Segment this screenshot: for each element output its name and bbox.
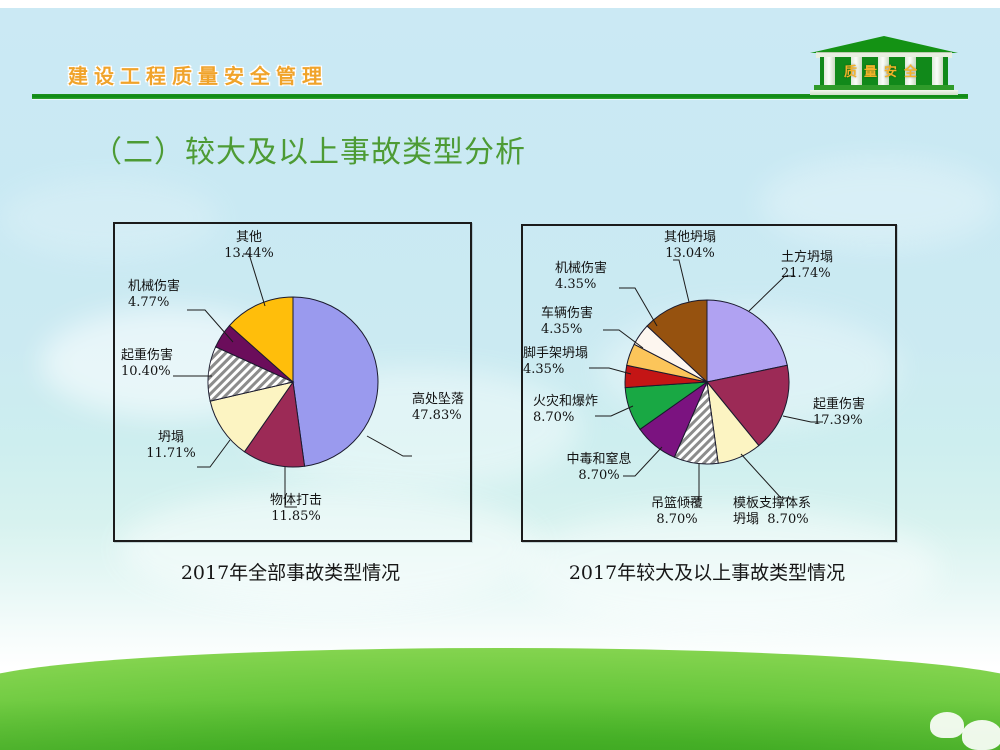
pie-label-mubanzhichengtanta: 模板支撑体系 坍塌 8.70% (733, 496, 811, 528)
logo-label: 质量安全 (820, 61, 948, 80)
header-title: 建设工程质量安全管理 (68, 60, 328, 89)
temple-base-lower (810, 90, 958, 95)
pie-label-cheliangshanghai: 车辆伤害 4.35% (541, 306, 593, 338)
page-title: （二）较大及以上事故类型分析 (92, 127, 526, 171)
leader-line (367, 436, 412, 456)
leader-line (595, 406, 633, 416)
pie-label-tufangtanta: 土方坍塌 21.74% (781, 250, 833, 282)
pie-slices (625, 300, 789, 464)
pie-slice (293, 297, 378, 466)
chart-frame-major-accident-types: 土方坍塌 21.74% 起重伤害 17.39% 模板支撑体系 坍塌 8.70% … (521, 224, 897, 542)
pie-label-huozai: 火灾和爆炸 8.70% (533, 394, 598, 426)
leader-line (619, 288, 657, 326)
pie-label-diaolanqingfu: 吊篮倾覆 8.70% (635, 496, 719, 528)
leader-line (243, 254, 265, 306)
pie-slices (208, 297, 378, 467)
temple-roof-icon (810, 36, 958, 53)
pie-label-tanta: 坍塌 11.71% (133, 430, 209, 462)
pie-label-qitatanta: 其他坍塌 13.04% (635, 230, 745, 262)
grass-tuft-decoration (930, 712, 964, 738)
chart-caption-right: 2017年较大及以上事故类型情况 (521, 558, 893, 585)
pie-label-gaochuzhuiluo: 高处坠落 47.83% (412, 392, 464, 424)
leader-line (741, 454, 791, 498)
slide-root: 建设工程质量安全管理 质量安全 （二）较大及以上事故类型分析 (0, 0, 1000, 750)
chart-caption-left: 2017年全部事故类型情况 (113, 558, 468, 585)
pie-chart-all-accident-types (115, 224, 466, 536)
slide-header: 建设工程质量安全管理 质量安全 (0, 0, 1000, 100)
pie-label-jiaoshoujiatanta: 脚手架坍塌 4.35% (523, 346, 588, 378)
pie-label-qita: 其他 13.44% (212, 230, 286, 262)
chart-frame-all-accident-types: 高处坠落 47.83% 物体打击 11.85% 坍塌 11.71% 起重伤害 1… (113, 222, 472, 542)
grass-shadow (0, 700, 1000, 750)
pie-label-zhongdu: 中毒和窒息 8.70% (547, 452, 651, 484)
leader-line (589, 368, 631, 374)
pie-label-qizhongshanghai: 起重伤害 10.40% (121, 348, 173, 380)
pie-label-qizhongshanghai: 起重伤害 17.39% (813, 397, 865, 429)
grass-tuft-decoration (962, 720, 1000, 750)
pie-label-wutidaji: 物体打击 11.85% (251, 493, 341, 525)
pie-label-jixieshanghai: 机械伤害 4.35% (555, 261, 607, 293)
pie-label-jixieshanghai: 机械伤害 4.77% (128, 279, 180, 311)
leader-line (673, 260, 689, 302)
quality-safety-temple-logo: 质量安全 (810, 36, 958, 96)
